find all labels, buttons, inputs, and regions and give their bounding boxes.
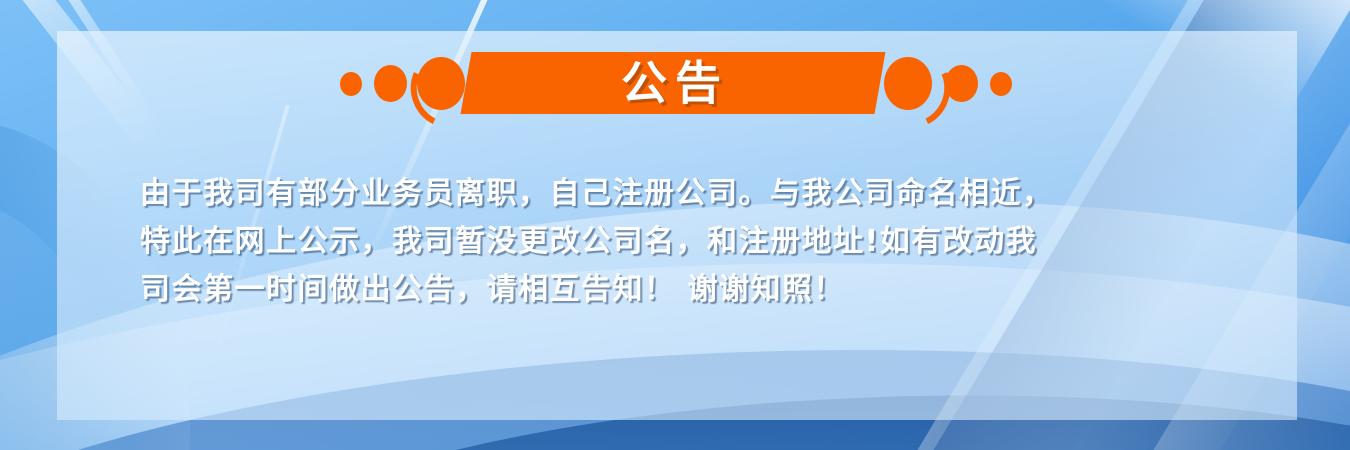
header-ribbon: 公告 <box>0 52 1350 114</box>
announcement-line-3: 司会第一时间做出公告，请相互告知！ 谢谢知照！ <box>140 266 1230 314</box>
banner-title: 公告 <box>0 52 1350 114</box>
announcement-line-2: 特此在网上公示，我司暂没更改公司名，和注册地址!如有改动我 <box>140 218 1230 266</box>
announcement-banner: 公告 由于我司有部分业务员离职，自己注册公司。与我公司命名相近， 特此在网上公示… <box>0 0 1350 450</box>
announcement-body: 由于我司有部分业务员离职，自己注册公司。与我公司命名相近， 特此在网上公示，我司… <box>140 170 1230 314</box>
announcement-line-1: 由于我司有部分业务员离职，自己注册公司。与我公司命名相近， <box>140 170 1230 218</box>
ribbon-graphics: 公告 <box>0 52 1350 114</box>
